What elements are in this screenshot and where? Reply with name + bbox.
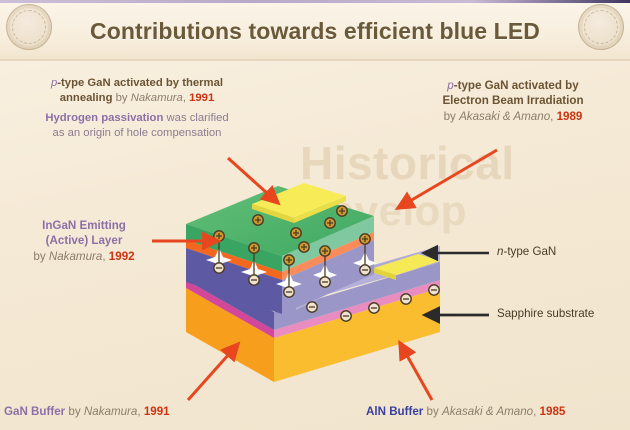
- text: by: [112, 92, 130, 104]
- author: Nakamura: [131, 92, 183, 104]
- annotation-ingan-active: InGaN Emitting (Active) Layer by Nakamur…: [4, 218, 164, 264]
- text: Hydrogen passivation: [45, 112, 163, 124]
- text: by: [33, 250, 48, 263]
- annotation-line: by Akasaki & Amano, 1989: [404, 109, 622, 124]
- annotation-line: annealing by Nakamura, 1991: [6, 91, 268, 106]
- text: by: [65, 405, 84, 418]
- author: Akasaki & Amano: [442, 405, 533, 418]
- text: -type GaN activated by: [454, 79, 579, 92]
- blue-led-diagram: [178, 168, 478, 383]
- university-seal-right-icon: [578, 4, 624, 50]
- annotation-line: InGaN Emitting: [4, 218, 164, 233]
- year: 1991: [189, 92, 214, 104]
- text: by: [444, 110, 459, 123]
- slide-canvas: Historical Develop Contributions towards…: [0, 0, 630, 430]
- annotation-line: p-type GaN activated by: [404, 78, 622, 93]
- annotation-line: (Active) Layer: [4, 233, 164, 248]
- annotation-line: p-type GaN activated by thermal: [6, 76, 268, 91]
- annotation-line: as an origin of hole compensation: [6, 126, 268, 141]
- year: 1985: [540, 405, 566, 418]
- annotation-aln-buffer: AlN Buffer by Akasaki & Amano, 1985: [366, 404, 565, 419]
- annotation-n-type-gan: n-type GaN: [497, 244, 556, 259]
- page-title: Contributions towards efficient blue LED: [60, 5, 570, 59]
- annotation-p-type-ebeam: p-type GaN activated by Electron Beam Ir…: [404, 78, 622, 124]
- text: -type GaN activated by thermal: [57, 77, 223, 89]
- year: 1991: [144, 405, 170, 418]
- annotation-line: by Nakamura, 1992: [4, 249, 164, 264]
- year: 1989: [557, 110, 583, 123]
- annotation-line: Electron Beam Irradiation: [404, 93, 622, 108]
- year: 1992: [109, 250, 135, 263]
- author: Nakamura: [84, 405, 137, 418]
- annotation-sapphire-substrate: Sapphire substrate: [497, 306, 594, 321]
- label: GaN Buffer: [4, 405, 65, 418]
- annotation-gan-buffer: GaN Buffer by Nakamura, 1991: [4, 404, 170, 419]
- text: -type GaN: [503, 245, 556, 258]
- label: AlN Buffer: [366, 405, 423, 418]
- annotation-p-type-thermal: p-type GaN activated by thermal annealin…: [6, 76, 268, 141]
- text: by: [423, 405, 442, 418]
- text: was clarified: [163, 112, 228, 124]
- annotation-line: Hydrogen passivation was clarified: [6, 111, 268, 126]
- text: annealing: [60, 92, 113, 104]
- author: Nakamura: [49, 250, 102, 263]
- author: Akasaki & Amano: [459, 110, 550, 123]
- university-seal-left-icon: [6, 4, 52, 50]
